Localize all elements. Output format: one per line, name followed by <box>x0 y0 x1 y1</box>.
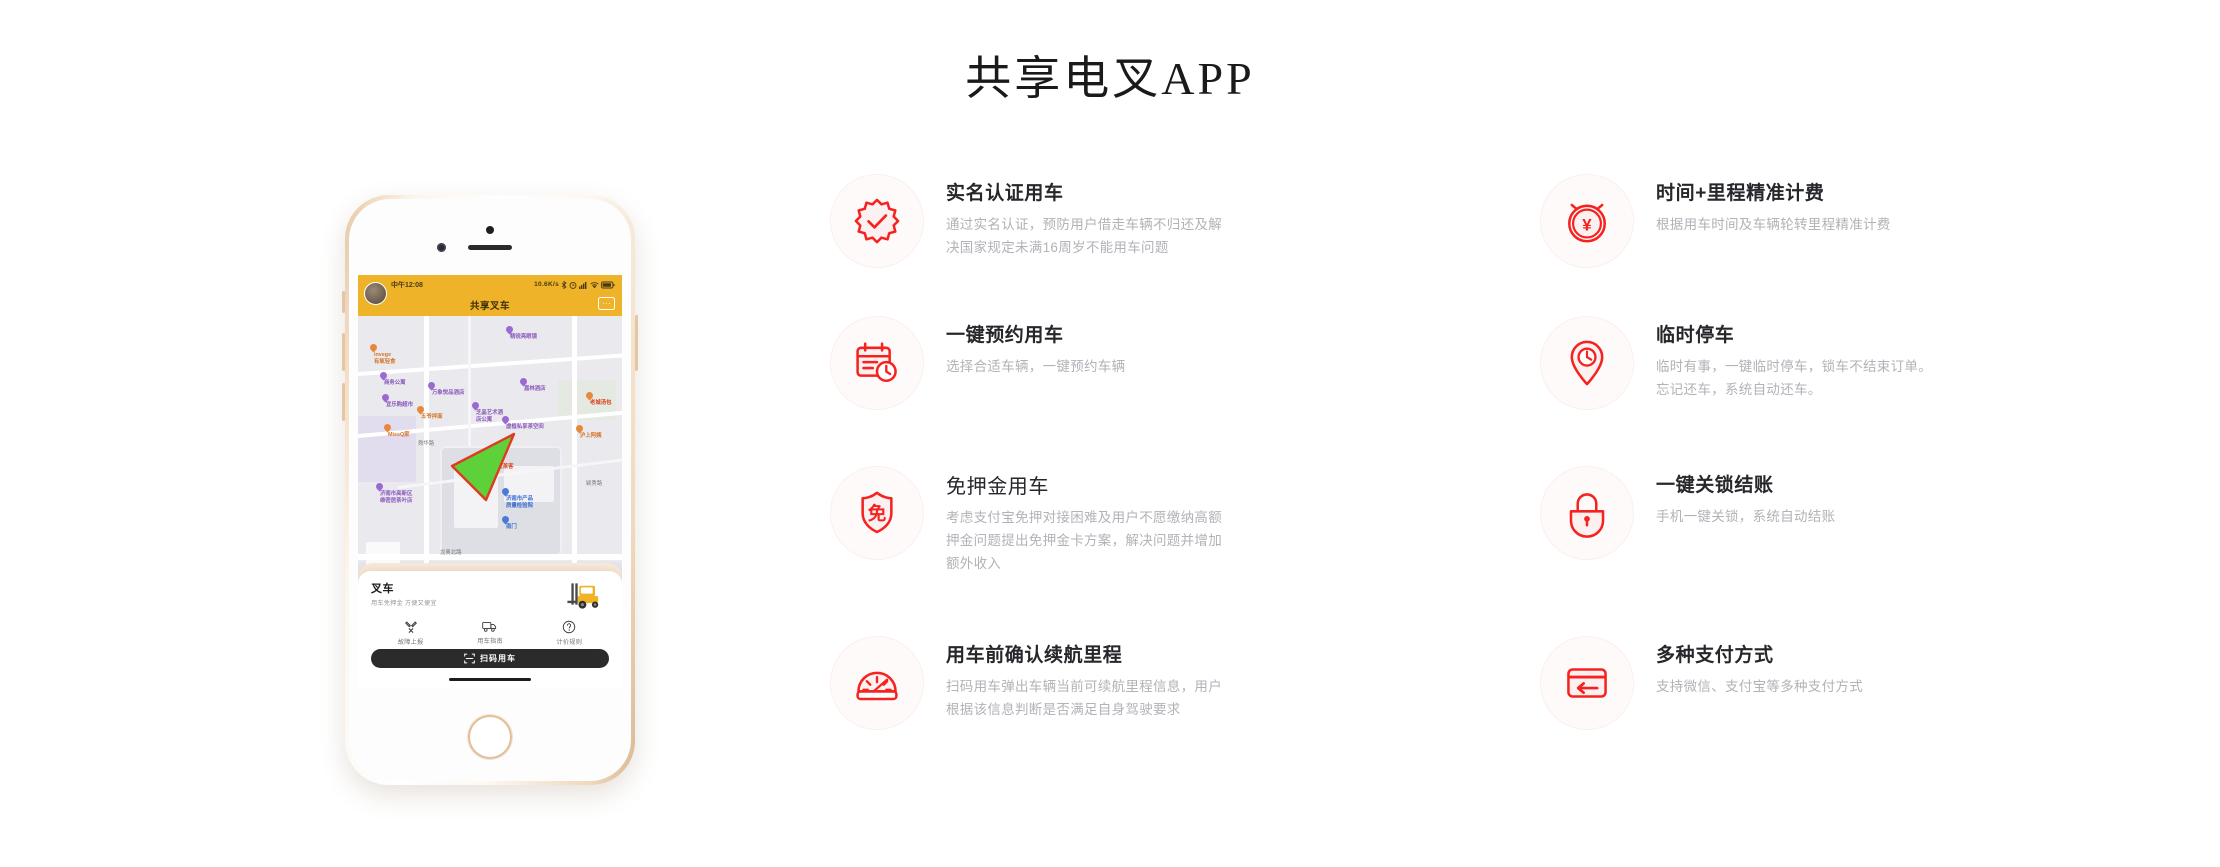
phone-earpiece-speaker <box>468 245 512 250</box>
map-poi-label: 济南市高新区 维密居茶叶店 <box>380 491 412 505</box>
map-pin[interactable] <box>375 482 385 492</box>
app-screen: 中午12:08 10.6K/s 共享叉车 <box>358 275 622 689</box>
action-label: 故障上报 <box>398 637 424 646</box>
app-navbar: 共享叉车 <box>358 294 622 316</box>
map-poi-label: invege 有氧轻食 <box>374 352 396 366</box>
feature-item: 实名认证用车通过实名认证，预防用户借走车辆不归还及解 决国家规定未满16周岁不能… <box>830 180 1222 268</box>
action-report-fault[interactable]: 故障上报 <box>378 620 444 646</box>
speedometer-icon <box>850 656 904 710</box>
feature-title: 一键关锁结账 <box>1656 474 1835 499</box>
feature-title: 实名认证用车 <box>946 182 1222 207</box>
map-poi-label: MissQ家 <box>388 432 410 439</box>
status-bar-indicators: 10.6K/s <box>534 281 615 289</box>
status-bar: 中午12:08 10.6K/s <box>358 275 622 294</box>
action-usage-guide[interactable]: 用车指南 <box>457 620 523 646</box>
phone-volume-up-button <box>342 333 345 371</box>
feature-title: 用车前确认续航里程 <box>946 644 1222 669</box>
scan-to-ride-label: 扫码用车 <box>480 653 516 664</box>
home-button[interactable] <box>468 715 512 759</box>
feature-item: 一键关锁结账手机一键关锁，系统自动结账 <box>1540 472 1835 560</box>
bottom-sheet: 叉车 用车免押金 方便又便宜 <box>358 571 622 689</box>
feature-title: 一键预约用车 <box>946 324 1125 349</box>
page-root: 共享电叉APP 中午12:08 10.6K/s <box>0 0 2220 867</box>
feature-icon-wrap: 免 <box>830 466 924 560</box>
feature-title: 免押金用车 <box>946 474 1222 500</box>
phone-mute-switch <box>342 291 345 313</box>
lock-icon <box>1560 486 1614 540</box>
feature-item: 临时停车临时有事，一键临时停车，锁车不结束订单。 忘记还车，系统自动还车。 <box>1540 322 1932 410</box>
status-bar-time: 中午12:08 <box>391 280 423 290</box>
feature-description: 扫码用车弹出车辆当前可续航里程信息，用户 根据该信息判断是否满足自身驾驶要求 <box>946 675 1222 721</box>
phone-power-button <box>635 315 638 371</box>
map-poi-label: 万象悦品酒店 <box>432 390 464 397</box>
signal-icon <box>579 281 588 289</box>
feature-item: 一键预约用车选择合适车辆，一键预约车辆 <box>830 322 1125 410</box>
feature-icon-wrap <box>1540 466 1634 560</box>
feature-icon-wrap <box>1540 636 1634 730</box>
network-speed-label: 10.6K/s <box>534 281 559 288</box>
wrench-icon <box>404 620 418 634</box>
feature-item: 多种支付方式支持微信、支付宝等多种支付方式 <box>1540 642 1863 730</box>
wifi-icon <box>590 281 599 289</box>
question-icon <box>562 620 576 634</box>
feature-icon-wrap <box>830 174 924 268</box>
calendar-clock-icon <box>850 336 904 390</box>
page-title: 共享电叉APP <box>0 42 2220 108</box>
phone-body: 中午12:08 10.6K/s 共享叉车 <box>345 195 635 785</box>
feature-description: 根据用车时间及车辆轮转里程精准计费 <box>1656 213 1891 236</box>
feature-item: 免免押金用车考虑支付宝免押对接困难及用户不愿缴纳高额 押金问题提出免押金卡方案，… <box>830 472 1222 576</box>
map-poi-label: 宜乐购超市 <box>386 402 413 409</box>
message-icon[interactable] <box>598 297 615 310</box>
map-poi-label: 嘉林酒店 <box>524 386 546 393</box>
forklift-icon <box>560 581 608 611</box>
action-label: 计价规则 <box>557 637 583 646</box>
scan-icon <box>464 653 475 664</box>
avatar[interactable] <box>364 282 387 305</box>
map-pin[interactable] <box>505 325 515 335</box>
map-pin[interactable] <box>471 401 481 411</box>
feature-description: 通过实名认证，预防用户借走车辆不归还及解 决国家规定未满16周岁不能用车问题 <box>946 213 1222 259</box>
feature-icon-wrap <box>1540 316 1634 410</box>
map-pin[interactable] <box>381 393 391 403</box>
feature-description: 手机一键关锁，系统自动结账 <box>1656 505 1835 528</box>
feature-text: 实名认证用车通过实名认证，预防用户借走车辆不归还及解 决国家规定未满16周岁不能… <box>946 180 1222 259</box>
feature-description: 选择合适车辆，一键预约车辆 <box>946 355 1125 378</box>
phone-volume-down-button <box>342 383 345 421</box>
phone-front-camera-icon <box>486 226 494 234</box>
feature-text: 一键关锁结账手机一键关锁，系统自动结账 <box>1656 472 1835 528</box>
action-pricing-rules[interactable]: 计价规则 <box>536 620 602 646</box>
feature-text: 时间+里程精准计费根据用车时间及车辆轮转里程精准计费 <box>1656 180 1891 236</box>
card-arrow-icon <box>1560 656 1614 710</box>
map-pin[interactable] <box>369 343 379 353</box>
truck-icon <box>482 620 497 633</box>
map-poi-label: 龙奥北路 <box>440 550 462 557</box>
phone-proximity-sensor-icon <box>437 243 446 252</box>
map-poi-label: 沪上阿姨 <box>580 433 602 440</box>
feature-icon-wrap <box>830 316 924 410</box>
alarm-icon <box>569 281 577 289</box>
map-poi-label: 颖秀路 <box>586 481 602 488</box>
action-label: 用车指南 <box>477 636 503 645</box>
map-pin[interactable] <box>519 377 529 387</box>
feature-title: 临时停车 <box>1656 324 1932 349</box>
alarm-yen-icon: ¥ <box>1560 194 1614 248</box>
feature-description: 支持微信、支付宝等多种支付方式 <box>1656 675 1863 698</box>
map-poi-label: 南门 <box>506 524 517 531</box>
sheet-actions: 故障上报 用车指南 <box>371 620 609 646</box>
map-poi-label: 商务公寓 <box>384 380 406 387</box>
feature-text: 多种支付方式支持微信、支付宝等多种支付方式 <box>1656 642 1863 698</box>
map-poi-label: 舜华路 <box>418 441 434 448</box>
svg-text:免: 免 <box>868 503 887 524</box>
verified-badge-icon <box>850 194 904 248</box>
scan-to-ride-button[interactable]: 扫码用车 <box>371 649 609 668</box>
feature-title: 多种支付方式 <box>1656 644 1863 669</box>
map-poi-label: 五爷拌面 <box>421 414 443 421</box>
feature-description: 临时有事，一键临时停车，锁车不结束订单。 忘记还车，系统自动还车。 <box>1656 355 1932 401</box>
feature-text: 一键预约用车选择合适车辆，一键预约车辆 <box>946 322 1125 378</box>
feature-icon-wrap <box>830 636 924 730</box>
phone-face: 中午12:08 10.6K/s 共享叉车 <box>349 199 631 781</box>
svg-text:¥: ¥ <box>1582 215 1592 234</box>
shield-free-deposit-icon: 免 <box>850 486 904 540</box>
feature-item: 用车前确认续航里程扫码用车弹出车辆当前可续航里程信息，用户 根据该信息判断是否满… <box>830 642 1222 730</box>
map-pin-clock-icon <box>1560 336 1614 390</box>
map-poi-label: 老城汤包 <box>590 400 612 407</box>
home-indicator <box>449 678 531 681</box>
feature-icon-wrap: ¥ <box>1540 174 1634 268</box>
feature-description: 考虑支付宝免押对接困难及用户不愿缴纳高额 押金问题提出免押金卡方案，解决问题并增… <box>946 506 1222 576</box>
feature-title: 时间+里程精准计费 <box>1656 182 1891 207</box>
map-poi-label: 精锐亮眼镜 <box>510 334 537 341</box>
bluetooth-icon <box>561 281 567 289</box>
feature-text: 免押金用车考虑支付宝免押对接困难及用户不愿缴纳高额 押金问题提出免押金卡方案，解… <box>946 472 1222 576</box>
app-title: 共享叉车 <box>470 298 510 312</box>
feature-item: ¥时间+里程精准计费根据用车时间及车辆轮转里程精准计费 <box>1540 180 1891 268</box>
feature-text: 临时停车临时有事，一键临时停车，锁车不结束订单。 忘记还车，系统自动还车。 <box>1656 322 1932 401</box>
battery-icon <box>601 281 615 289</box>
feature-text: 用车前确认续航里程扫码用车弹出车辆当前可续航里程信息，用户 根据该信息判断是否满… <box>946 642 1222 721</box>
map-poi-label: 芝晶艺术酒 店公寓 <box>476 410 503 424</box>
phone-mockup: 中午12:08 10.6K/s 共享叉车 <box>345 195 635 785</box>
